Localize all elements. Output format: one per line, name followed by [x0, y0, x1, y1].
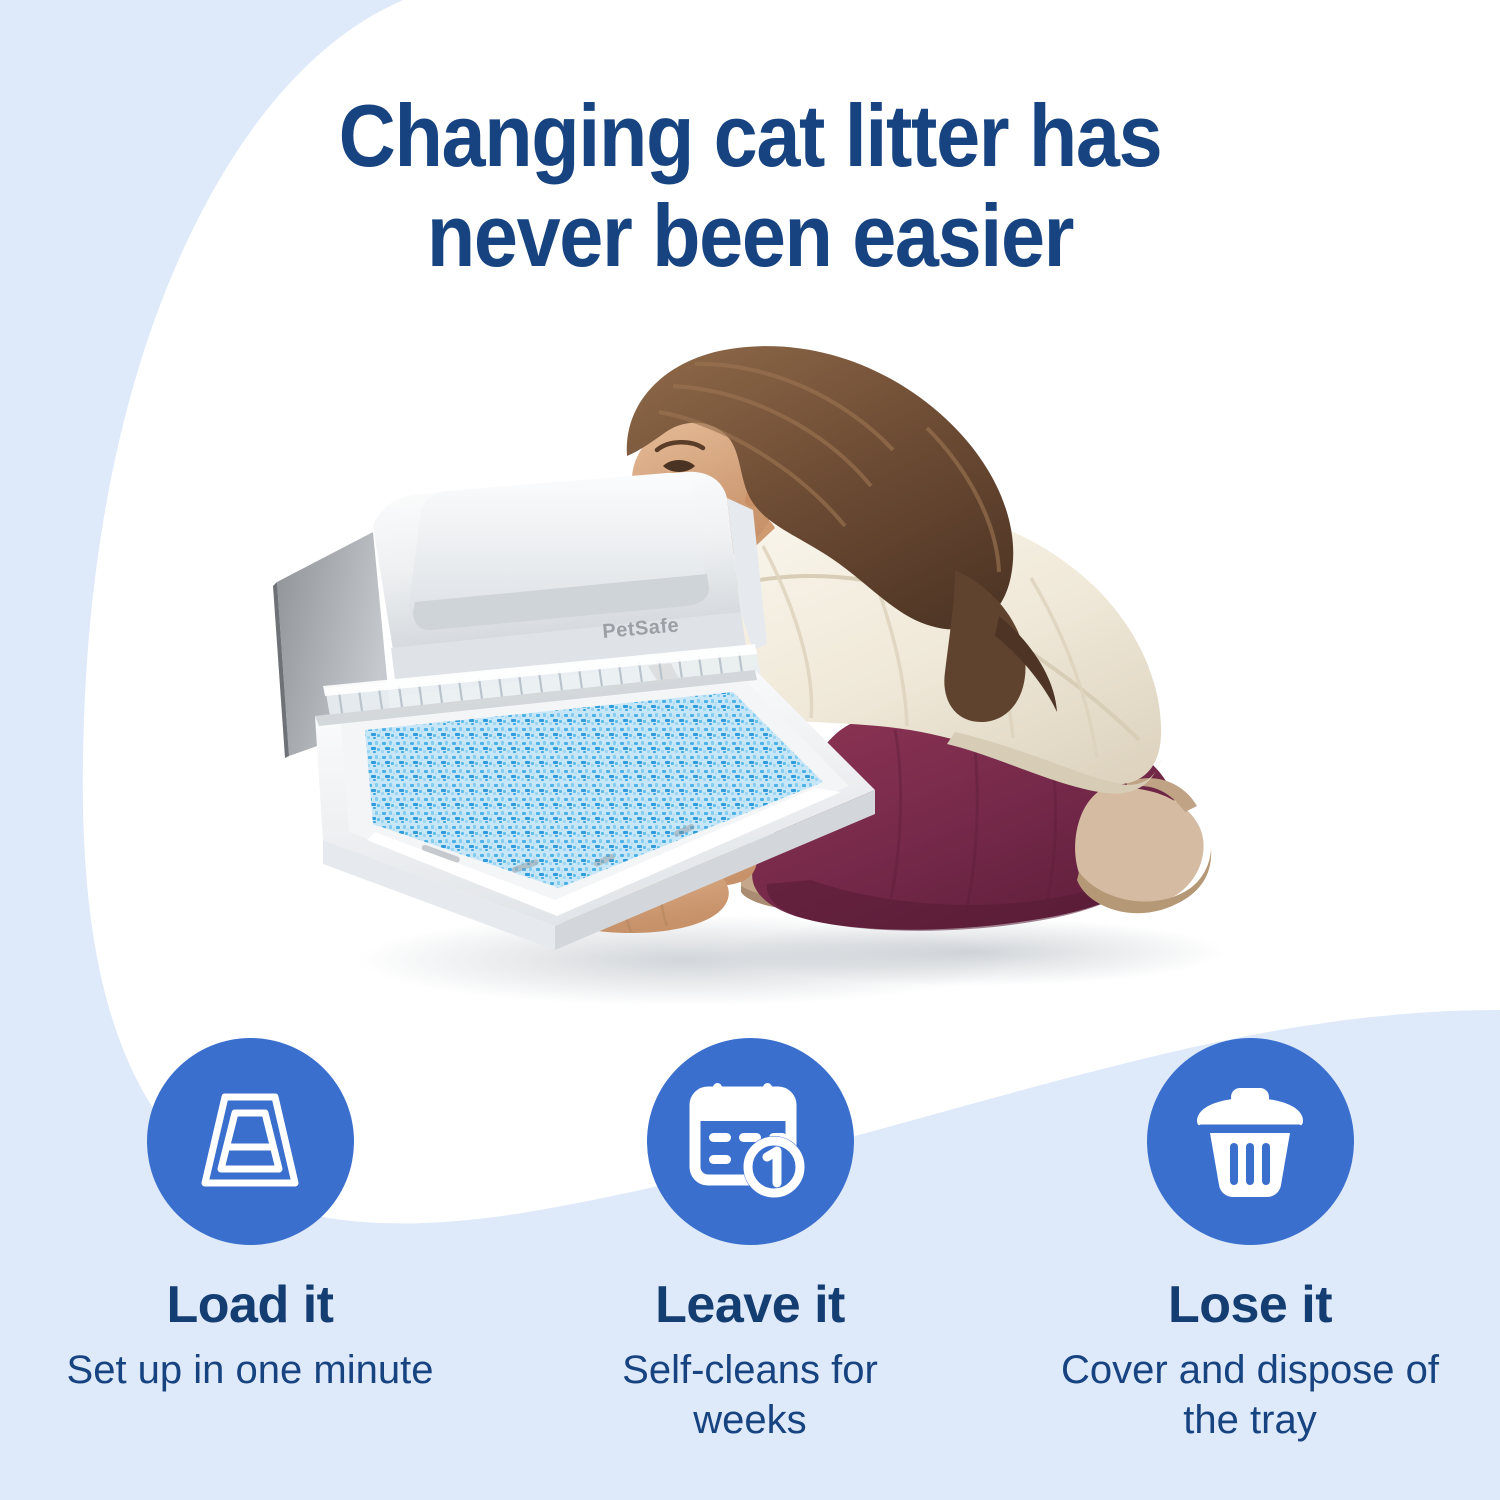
- page-title: Changing cat litter has never been easie…: [75, 86, 1425, 287]
- feature-description: Self-cleans for weeks: [560, 1345, 940, 1446]
- feature-title: Leave it: [655, 1279, 845, 1331]
- calendar-one-icon: [687, 1081, 813, 1203]
- trash-can-icon-circle: [1147, 1038, 1354, 1245]
- feature-description: Cover and dispose of the tray: [1060, 1345, 1440, 1446]
- feature-description: Set up in one minute: [67, 1345, 434, 1395]
- feature-title: Load it: [167, 1279, 334, 1331]
- feature-title: Lose it: [1168, 1279, 1332, 1331]
- feature-leave-it[interactable]: Leave it Self-cleans for weeks: [500, 1038, 1000, 1468]
- feature-row: Load it Set up in one minute: [0, 1038, 1500, 1468]
- trash-can-icon: [1191, 1081, 1309, 1203]
- headline-line-2: never been easier: [75, 186, 1425, 286]
- calendar-one-icon-circle: [647, 1038, 854, 1245]
- hero-product-photo: PetSafe: [255, 320, 1255, 1030]
- feature-lose-it[interactable]: Lose it Cover and dispose of the tray: [1000, 1038, 1500, 1468]
- feature-load-it[interactable]: Load it Set up in one minute: [0, 1038, 500, 1468]
- litter-tray-icon: [191, 1083, 309, 1201]
- litter-tray-icon-circle: [147, 1038, 354, 1245]
- headline-line-1: Changing cat litter has: [339, 86, 1162, 185]
